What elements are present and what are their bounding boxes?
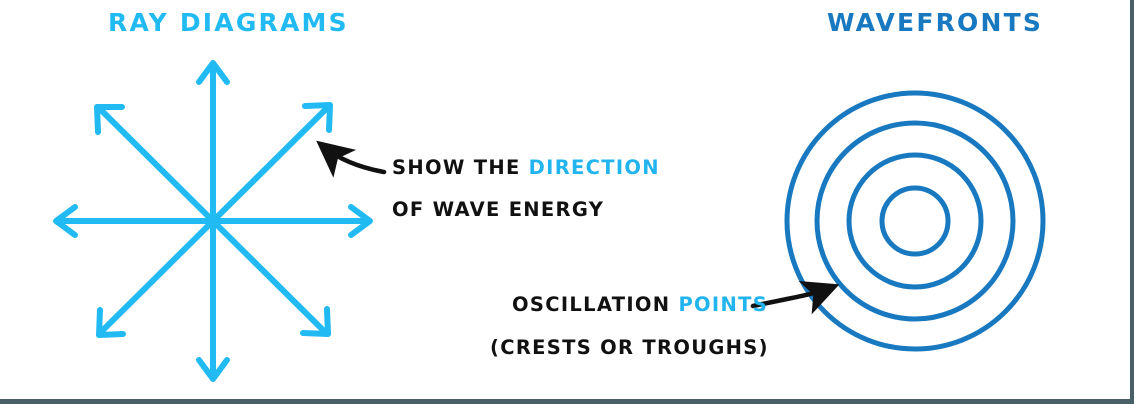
right-annotation-line2: (CRESTS OR TROUGHS)	[490, 336, 769, 359]
right-annotation-highlight: POINTS	[678, 293, 768, 316]
ray-down-left	[99, 221, 213, 335]
left-annotation-line1: SHOW THE DIRECTION	[392, 156, 660, 179]
ray-diagram-star	[56, 63, 370, 379]
wavefront-circle-4	[787, 93, 1043, 349]
figure-canvas: RAY DIAGRAMS WAVEFRONTS SHOW THE DIRECTI…	[0, 0, 1134, 404]
ray-up	[199, 63, 227, 221]
right-annotation-line1: OSCILLATION POINTS	[512, 293, 768, 316]
wavefront-circles	[787, 93, 1043, 349]
wavefront-circle-1	[882, 188, 948, 254]
left-annotation-arrow	[324, 147, 384, 172]
right-annotation-line1-plain: OSCILLATION	[512, 293, 678, 316]
ray-up-left	[97, 107, 213, 221]
left-annotation-line2: OF WAVE ENERGY	[392, 198, 604, 221]
wavefront-circle-2	[849, 155, 981, 287]
ray-down	[199, 221, 227, 379]
ray-down-right	[213, 221, 328, 334]
left-annotation-highlight: DIRECTION	[529, 156, 660, 179]
wavefront-circle-3	[817, 123, 1013, 319]
ray-up-right	[213, 105, 330, 221]
ray-right	[213, 207, 370, 235]
ray-left	[56, 207, 213, 235]
left-annotation-line1-plain: SHOW THE	[392, 156, 529, 179]
ray-diagrams-title: RAY DIAGRAMS	[108, 8, 349, 37]
wavefronts-title: WAVEFRONTS	[827, 8, 1043, 37]
